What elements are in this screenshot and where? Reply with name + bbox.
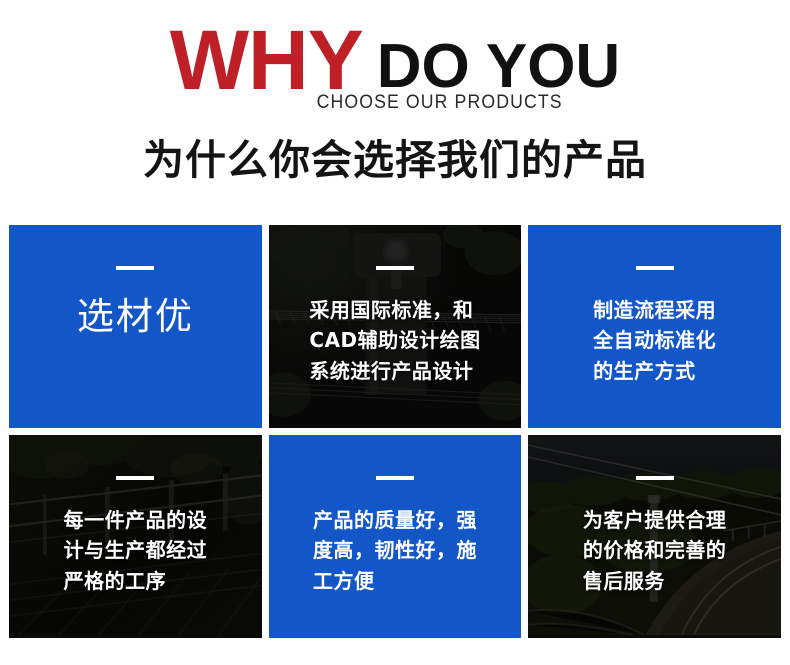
feature-text: 每一件产品的设 计与生产都经过 严格的工序 bbox=[64, 505, 208, 596]
divider-dash-icon bbox=[116, 476, 154, 480]
banner-header: WHY DO YOU CHOOSE OUR PRODUCTS 为什么你会选择我们… bbox=[0, 0, 790, 218]
divider-dash-icon bbox=[376, 266, 414, 270]
feature-cell-material[interactable]: 选材优 bbox=[9, 225, 262, 428]
feature-cell-process[interactable]: 制造流程采用 全自动标准化 的生产方式 bbox=[528, 225, 781, 428]
feature-cell-quality-control[interactable]: 每一件产品的设 计与生产都经过 严格的工序 bbox=[9, 435, 262, 638]
feature-text: 采用国际标准，和 CAD辅助设计绘图 系统进行产品设计 bbox=[309, 295, 480, 386]
subtitle-english: CHOOSE OUR PRODUCTS bbox=[28, 92, 763, 114]
feature-text: 为客户提供合理 的价格和完善的 售后服务 bbox=[583, 505, 727, 596]
promo-banner: WHY DO YOU CHOOSE OUR PRODUCTS 为什么你会选择我们… bbox=[0, 0, 790, 665]
headline: WHY DO YOU bbox=[0, 18, 790, 102]
headline-highlight: WHY bbox=[170, 18, 363, 102]
headline-rest: DO YOU bbox=[377, 36, 620, 98]
feature-cell-product-quality[interactable]: 产品的质量好，强 度高，韧性好，施 工方便 bbox=[269, 435, 522, 638]
divider-dash-icon bbox=[376, 476, 414, 480]
feature-text: 产品的质量好，强 度高，韧性好，施 工方便 bbox=[313, 505, 477, 596]
divider-dash-icon bbox=[636, 266, 674, 270]
divider-dash-icon bbox=[116, 266, 154, 270]
feature-cell-service[interactable]: 为客户提供合理 的价格和完善的 售后服务 bbox=[528, 435, 781, 638]
feature-grid: 选材优 bbox=[9, 225, 781, 638]
divider-dash-icon bbox=[636, 476, 674, 480]
feature-text: 制造流程采用 全自动标准化 的生产方式 bbox=[593, 295, 716, 386]
feature-cell-standard[interactable]: 采用国际标准，和 CAD辅助设计绘图 系统进行产品设计 bbox=[269, 225, 522, 428]
subtitle-chinese: 为什么你会选择我们的产品 bbox=[0, 126, 790, 186]
feature-text: 选材优 bbox=[77, 295, 194, 339]
